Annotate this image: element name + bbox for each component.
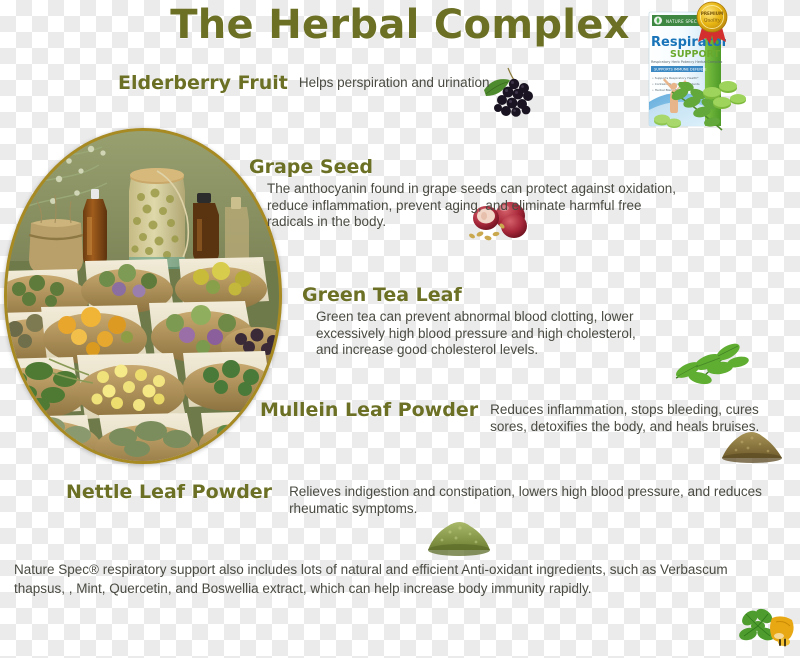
- herb-description-mullein-leaf-powder: Reduces inflammation, stops bleeding, cu…: [490, 399, 768, 435]
- herb-name-elderberry: Elderberry Fruit: [118, 72, 288, 94]
- herb-name-nettle-leaf-powder: Nettle Leaf Powder: [66, 481, 272, 503]
- svg-text:• Supports Respiratory Health*: • Supports Respiratory Health*: [652, 76, 699, 80]
- award-seal-icon: PREMIUM Quality: [692, 0, 732, 46]
- herb-description-elderberry: Helps perspiration and urination: [299, 72, 619, 92]
- herb-description-grape-seed: The anthocyanin found in grape seeds can…: [267, 178, 685, 231]
- dried-herbs-illustration: [7, 131, 279, 461]
- infographic-canvas: The Herbal Complex: [0, 0, 800, 658]
- honey-and-bee: [766, 612, 800, 652]
- honey-drip-image: [766, 612, 800, 652]
- svg-text:SUPPORT: SUPPORT: [670, 49, 720, 60]
- herb-description-nettle-leaf-powder: Relieves indigestion and constipation, l…: [289, 481, 771, 517]
- herb-row-nettle-leaf-powder: Nettle Leaf PowderRelieves indigestion a…: [66, 481, 771, 517]
- herb-description-green-tea-leaf: Green tea can prevent abnormal blood clo…: [316, 306, 646, 359]
- green-tablets-image: [700, 78, 752, 118]
- bottom-note-text: Nature Spec® respiratory support also in…: [14, 560, 774, 598]
- herb-row-green-tea-leaf: Green Tea LeafGreen tea can prevent abno…: [302, 284, 800, 359]
- green-powder-pile: [424, 512, 494, 558]
- nettle-powder-image: [424, 512, 494, 558]
- svg-text:PREMIUM: PREMIUM: [701, 11, 723, 16]
- herb-row-grape-seed: Grape SeedThe anthocyanin found in grape…: [249, 156, 800, 231]
- herb-row-mullein-leaf-powder: Mullein Leaf PowderReduces inflammation,…: [260, 399, 768, 435]
- dried-herbs-photo: [4, 128, 282, 464]
- svg-text:Quality: Quality: [704, 18, 721, 24]
- herb-name-mullein-leaf-powder: Mullein Leaf Powder: [260, 399, 478, 421]
- svg-text:SUPPORTS IMMUNE DEFENSE: SUPPORTS IMMUNE DEFENSE: [654, 68, 707, 72]
- herb-name-green-tea-leaf: Green Tea Leaf: [302, 284, 462, 306]
- green-tablets: [700, 78, 752, 118]
- svg-text:Respiratory Herb Potency Herba: Respiratory Herb Potency Herbal Complex: [651, 60, 722, 64]
- herb-name-grape-seed: Grape Seed: [249, 156, 373, 178]
- herb-row-elderberry: Elderberry FruitHelps perspiration and u…: [118, 72, 619, 94]
- gold-quality-seal: PREMIUM Quality: [692, 0, 732, 46]
